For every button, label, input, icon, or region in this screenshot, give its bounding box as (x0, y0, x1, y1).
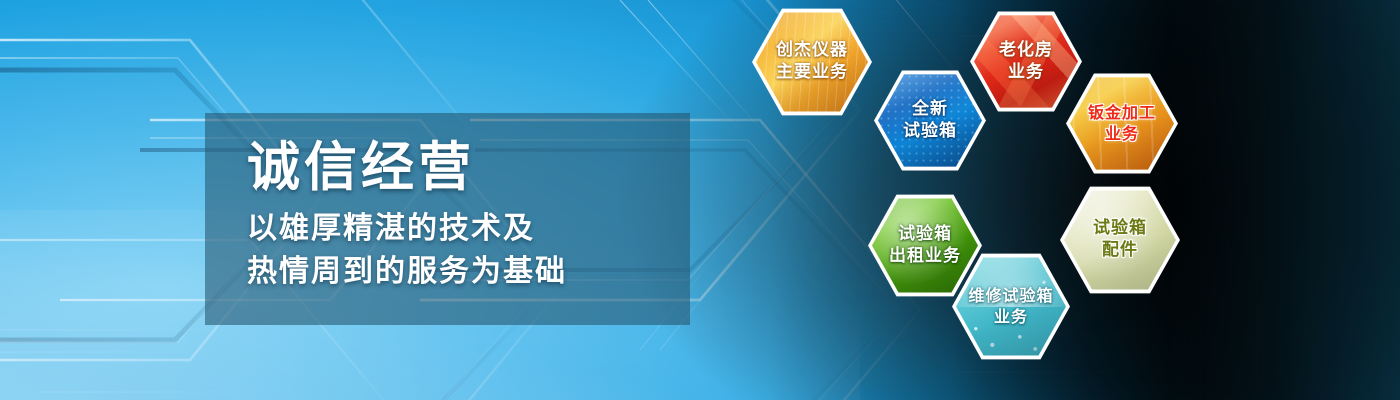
hex-chamber-rental-label: 试验箱 出租业务 (883, 224, 967, 268)
business-hexagon-cluster: 创杰仪器 主要业务 全新 试验箱 老化房 业务 (0, 0, 1400, 400)
hex-new-test-chamber[interactable]: 全新 试验箱 (874, 69, 986, 172)
hex-label-line1: 钣金加工 (1088, 103, 1156, 123)
hex-label-line2: 主要业务 (776, 62, 848, 84)
hex-main-business-label: 创杰仪器 主要业务 (770, 40, 854, 84)
hex-sheet-metal-label: 钣金加工 业务 (1082, 103, 1162, 144)
hex-label-line1: 创杰仪器 (776, 40, 848, 62)
hex-chamber-rental[interactable]: 试验箱 出租业务 (868, 193, 982, 298)
hex-label-line2: 业务 (1088, 124, 1156, 144)
hex-label-line2: 试验箱 (903, 121, 957, 143)
hex-sheet-metal[interactable]: 钣金加工 业务 (1066, 72, 1178, 175)
hex-chamber-repair-label: 维修试验箱 业务 (962, 286, 1059, 327)
hex-new-test-chamber-label: 全新 试验箱 (897, 99, 963, 143)
hex-label-line2: 业务 (968, 307, 1053, 327)
hex-label-line2: 出租业务 (889, 246, 961, 268)
hex-chamber-parts[interactable]: 试验箱 配件 (1060, 185, 1180, 295)
hex-label-line2: 配件 (1093, 240, 1147, 262)
hex-label-line1: 试验箱 (1093, 218, 1147, 240)
hex-label-line1: 维修试验箱 (968, 286, 1053, 306)
promotional-banner: 诚信经营 以雄厚精湛的技术及 热情周到的服务为基础 创杰仪器 主要业务 全新 (0, 0, 1400, 400)
hex-chamber-repair[interactable]: 维修试验箱 业务 (952, 252, 1070, 361)
hex-label-line1: 全新 (903, 99, 957, 121)
hex-aging-room-label: 老化房 业务 (993, 40, 1059, 84)
hex-label-line2: 业务 (999, 62, 1053, 84)
hex-main-business[interactable]: 创杰仪器 主要业务 (752, 7, 872, 117)
hex-chamber-parts-label: 试验箱 配件 (1087, 218, 1153, 262)
hex-label-line1: 老化房 (999, 40, 1053, 62)
hex-label-line1: 试验箱 (889, 224, 961, 246)
hex-aging-room[interactable]: 老化房 业务 (970, 10, 1082, 113)
